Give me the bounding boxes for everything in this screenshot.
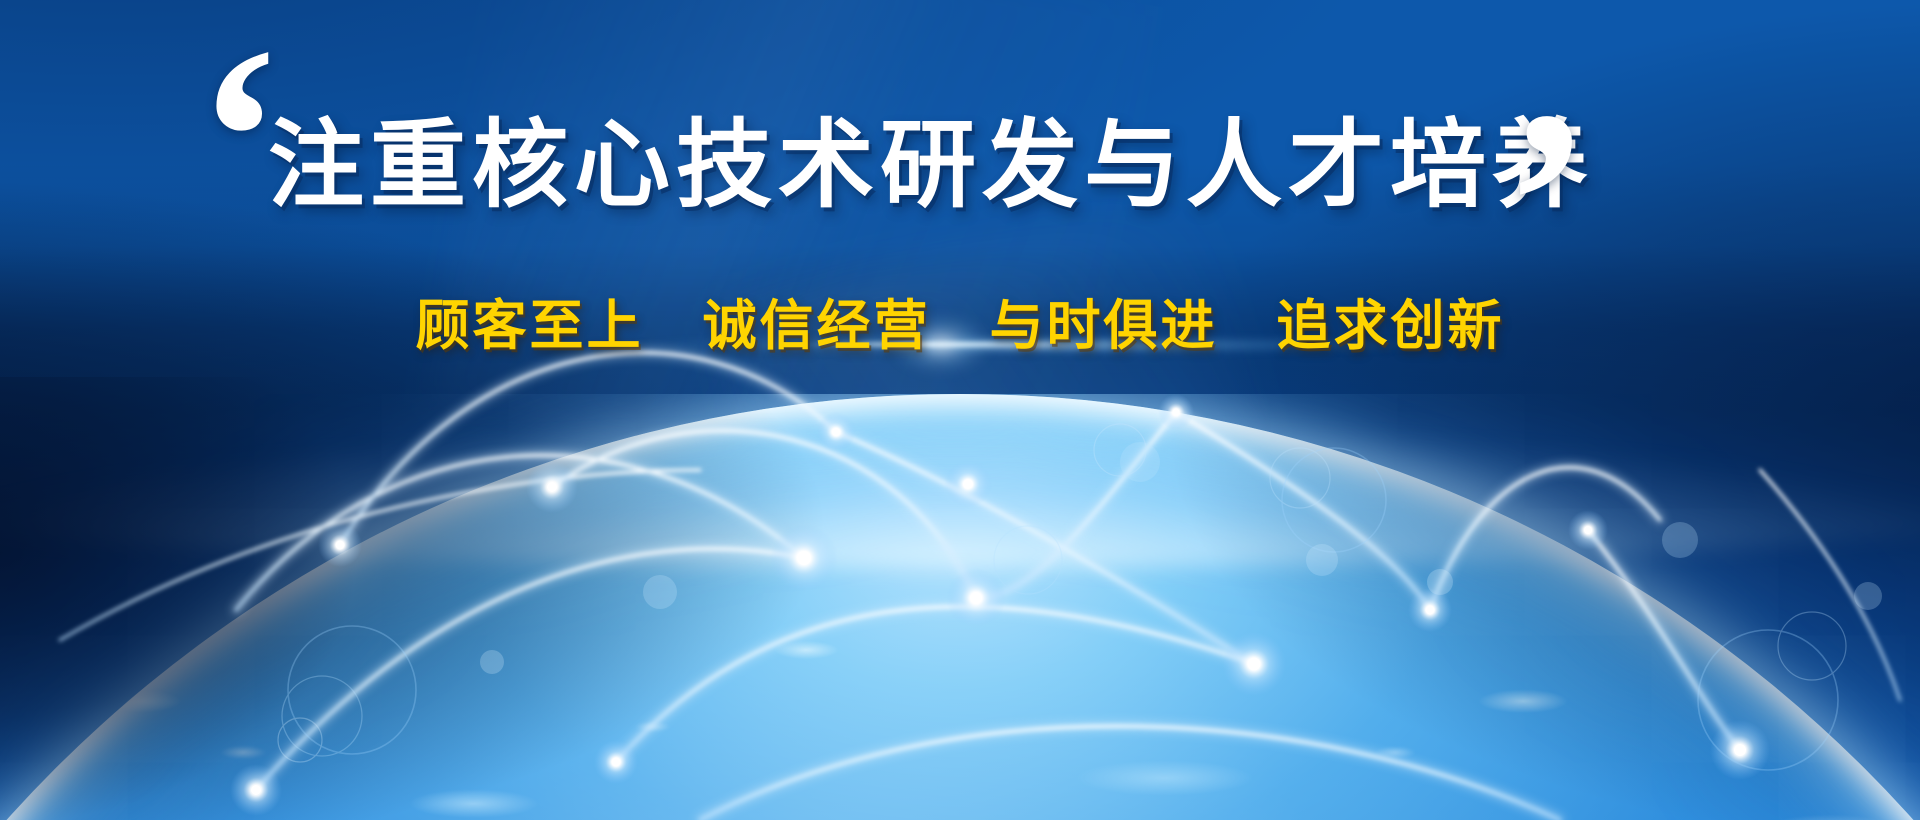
page-title: 注重核心技术研发与人才培养	[268, 115, 1594, 217]
slogan-part-4: 追求创新	[1277, 296, 1505, 356]
slogan-part-1: 顾客至上	[416, 296, 644, 356]
slogan-part-2: 诚信经营	[703, 296, 931, 356]
banner-text-block: ‘ 注重核心技术研发与人才培养 ’ 顾客至上 诚信经营 与时俱进 追求创新	[0, 0, 1920, 820]
slogan-part-3: 与时俱进	[990, 296, 1218, 356]
slogan-line: 顾客至上 诚信经营 与时俱进 追求创新	[0, 281, 1920, 360]
hero-banner: ‘ 注重核心技术研发与人才培养 ’ 顾客至上 诚信经营 与时俱进 追求创新	[0, 0, 1920, 820]
